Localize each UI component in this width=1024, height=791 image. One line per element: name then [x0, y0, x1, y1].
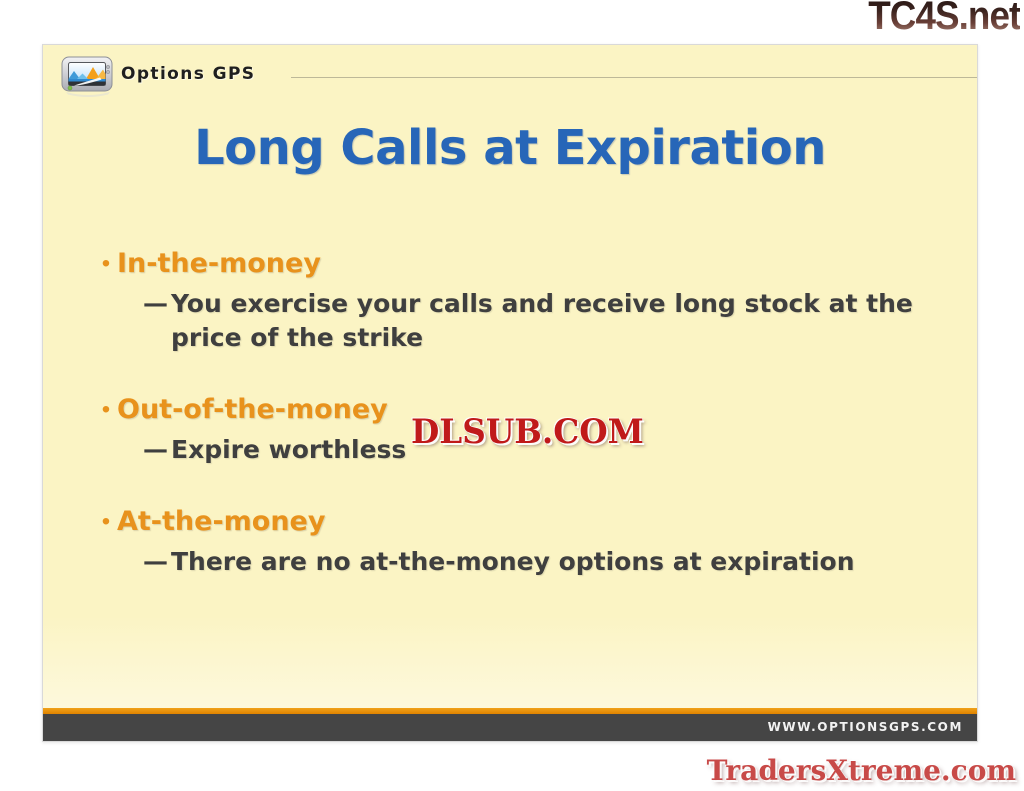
dlsub-watermark: DLSUB.COM — [411, 415, 644, 449]
brand-name: Options GPS — [121, 64, 255, 84]
em-dash-icon: — — [143, 433, 171, 467]
sub-bullet-text: Expire worthless — [171, 433, 406, 467]
em-dash-icon: — — [143, 287, 171, 321]
sub-bullet-row: — You exercise your calls and receive lo… — [95, 287, 947, 355]
slide-footer: WWW.OPTIONSGPS.COM — [43, 714, 977, 741]
header-divider — [291, 77, 977, 78]
footer-website-url: WWW.OPTIONSGPS.COM — [768, 720, 963, 734]
em-dash-icon: — — [143, 545, 171, 579]
bullet-group-at-the-money: • At-the-money — There are no at-the-mon… — [95, 503, 947, 579]
slide-title: Long Calls at Expiration — [43, 123, 977, 173]
bullet-dot-icon: • — [95, 245, 117, 283]
bullet-heading: At-the-money — [117, 503, 325, 541]
bullet-dot-icon: • — [95, 391, 117, 429]
bullet-row: • At-the-money — [95, 503, 947, 541]
bullet-dot-icon: • — [95, 503, 117, 541]
presentation-slide: Options GPS Long Calls at Expiration • I… — [42, 44, 978, 742]
bullet-row: • In-the-money — [95, 245, 947, 283]
bullet-heading: Out-of-the-money — [117, 391, 388, 429]
tc4s-watermark: TC4S.net — [868, 0, 1020, 36]
gps-device-icon — [60, 55, 116, 97]
bullet-heading: In-the-money — [117, 245, 321, 283]
bullet-group-in-the-money: • In-the-money — You exercise your calls… — [95, 245, 947, 355]
tradersxtreme-watermark: TradersXtreme.com — [707, 757, 1016, 785]
sub-bullet-text: You exercise your calls and receive long… — [171, 287, 916, 355]
slide-header: Options GPS — [43, 45, 977, 103]
sub-bullet-text: There are no at-the-money options at exp… — [171, 545, 855, 579]
sub-bullet-row: — There are no at-the-money options at e… — [95, 545, 947, 579]
